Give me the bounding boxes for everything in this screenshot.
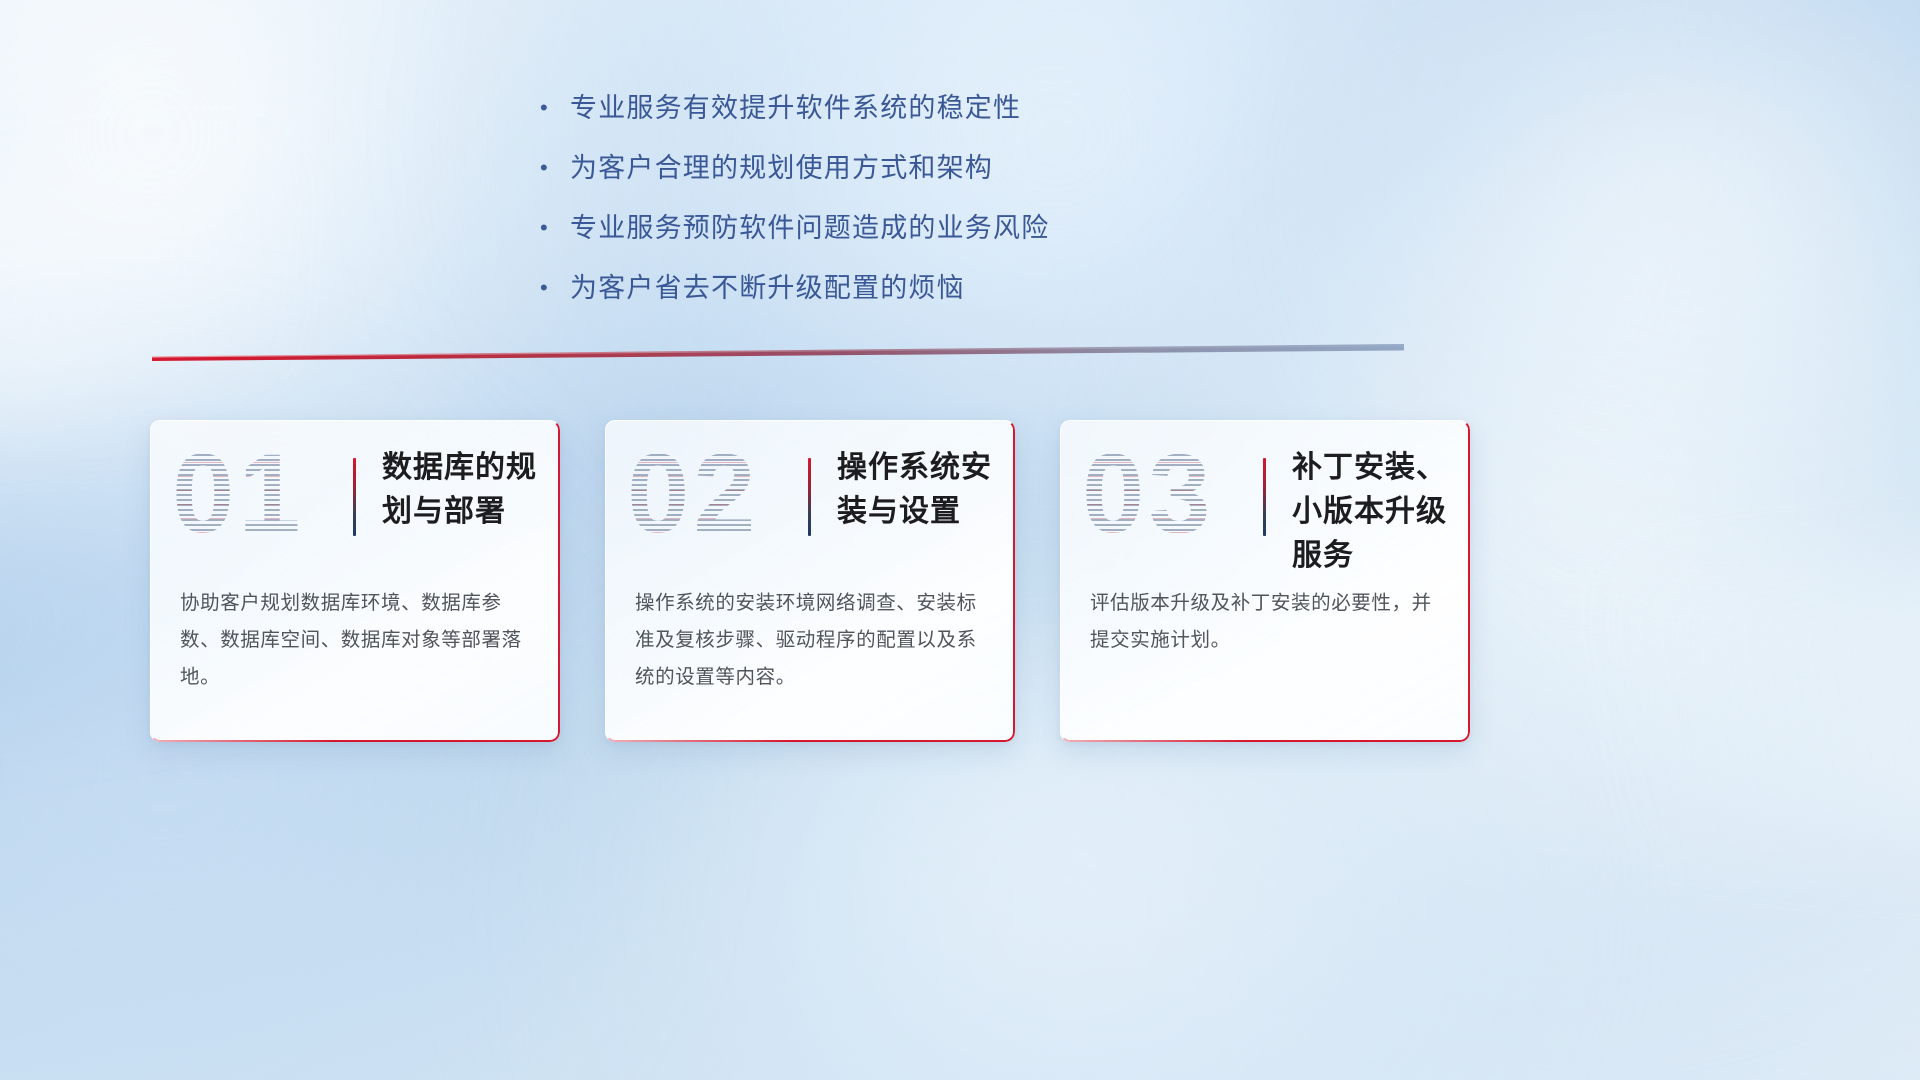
service-card-03[interactable]: 03 03 补丁安装、小版本升级服务 评估版本升级及补丁安装的必要性，并提交实施…	[1060, 420, 1470, 742]
card-body-text: 操作系统的安装环境网络调查、安装标准及复核步骤、驱动程序的配置以及系统的设置等内…	[635, 585, 989, 696]
card-title: 操作系统安装与设置	[837, 446, 1013, 534]
card-number-watermark-tint: 03	[1082, 434, 1215, 554]
card-number-watermark-tint: 02	[627, 434, 760, 554]
service-card-02[interactable]: 02 02 操作系统安装与设置 操作系统的安装环境网络调查、安装标准及复核步骤、…	[605, 420, 1015, 742]
bullet-text: 专业服务有效提升软件系统的稳定性	[570, 88, 1021, 128]
bullet-text: 为客户合理的规划使用方式和架构	[570, 148, 993, 188]
card-title: 数据库的规划与部署	[382, 446, 558, 534]
service-card-01[interactable]: 01 01 数据库的规划与部署 协助客户规划数据库环境、数据库参数、数据库空间、…	[150, 420, 560, 742]
card-divider-bar	[353, 458, 356, 536]
bullet-dot-icon: •	[540, 148, 570, 188]
card-header: 01 01 数据库的规划与部署	[150, 420, 560, 572]
card-number-watermark-tint: 01	[172, 434, 305, 554]
bullet-dot-icon: •	[540, 208, 570, 248]
section-divider	[152, 344, 1404, 366]
list-item: • 专业服务有效提升软件系统的稳定性	[540, 88, 1440, 128]
card-body-text: 评估版本升级及补丁安装的必要性，并提交实施计划。	[1090, 585, 1444, 659]
card-divider-bar	[808, 458, 811, 536]
card-header: 02 02 操作系统安装与设置	[605, 420, 1015, 572]
bullet-dot-icon: •	[540, 268, 570, 308]
card-title: 补丁安装、小版本升级服务	[1292, 446, 1468, 578]
service-cards-row: 01 01 数据库的规划与部署 协助客户规划数据库环境、数据库参数、数据库空间、…	[150, 420, 1470, 742]
list-item: • 为客户合理的规划使用方式和架构	[540, 148, 1440, 188]
card-divider-bar	[1263, 458, 1266, 536]
benefits-bullet-list: • 专业服务有效提升软件系统的稳定性 • 为客户合理的规划使用方式和架构 • 专…	[540, 88, 1440, 328]
divider-wedge-shape	[152, 344, 1404, 366]
list-item: • 专业服务预防软件问题造成的业务风险	[540, 208, 1440, 248]
card-body-text: 协助客户规划数据库环境、数据库参数、数据库空间、数据库对象等部署落地。	[180, 585, 534, 696]
card-header: 03 03 补丁安装、小版本升级服务	[1060, 420, 1470, 572]
bullet-text: 为客户省去不断升级配置的烦恼	[570, 268, 965, 308]
bullet-dot-icon: •	[540, 88, 570, 128]
list-item: • 为客户省去不断升级配置的烦恼	[540, 268, 1440, 308]
bullet-text: 专业服务预防软件问题造成的业务风险	[570, 208, 1049, 248]
